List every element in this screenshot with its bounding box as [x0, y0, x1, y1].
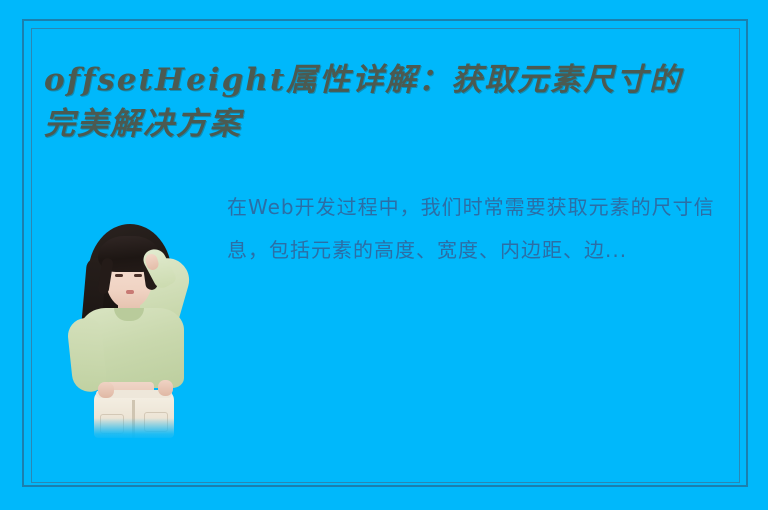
article-title: offsetHeight属性详解：获取元素尺寸的完美解决方案	[44, 58, 684, 146]
hand-on-hip-left	[98, 382, 114, 398]
eye-right	[134, 274, 142, 277]
photo-bottom-fade	[62, 418, 210, 438]
hand-on-hip-right	[158, 380, 173, 396]
eye-left	[115, 274, 123, 277]
article-cover-card: offsetHeight属性详解：获取元素尺寸的完美解决方案 在Web开发过程中…	[0, 0, 768, 510]
lips	[126, 290, 134, 294]
article-excerpt: 在Web开发过程中，我们时常需要获取元素的尺寸信息，包括元素的高度、宽度、内边距…	[227, 186, 742, 314]
cover-photo-person	[62, 222, 210, 438]
